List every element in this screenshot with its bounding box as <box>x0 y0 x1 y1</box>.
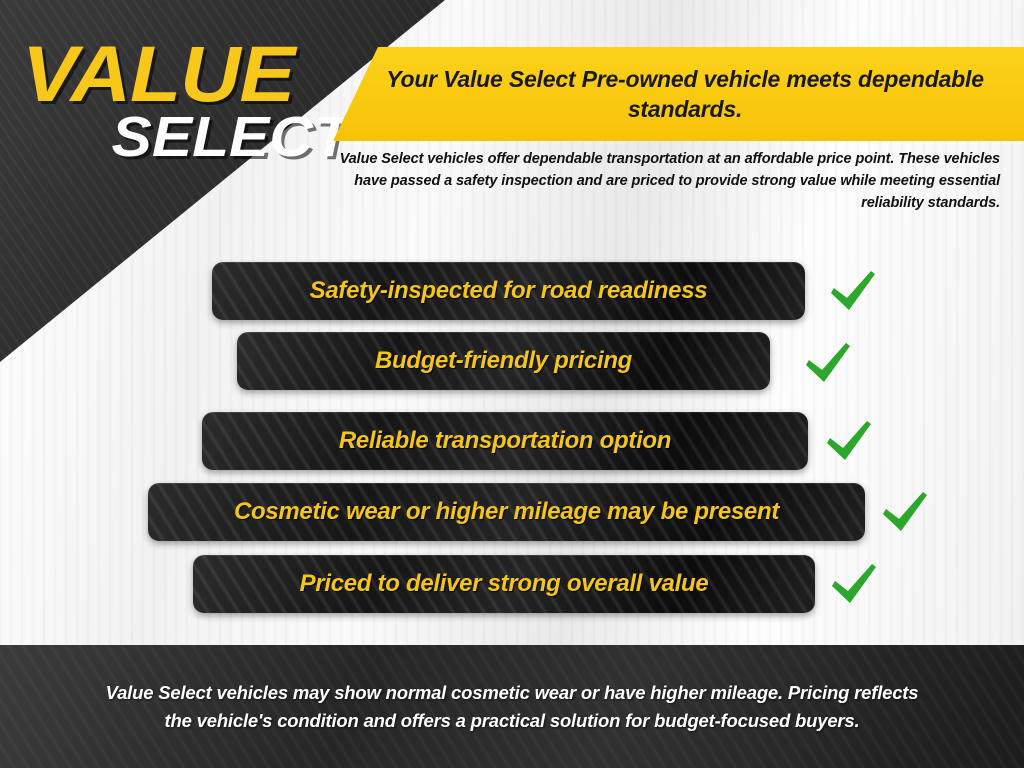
green-check-icon <box>876 486 932 538</box>
logo-word-value: VALUE <box>22 36 372 112</box>
brand-logo: VALUE SELECT <box>22 36 352 166</box>
feature-bar: Budget-friendly pricing <box>237 332 770 390</box>
headline-text: Your Value Select Pre-owned vehicle meet… <box>385 64 985 124</box>
value-select-banner: VALUE SELECT Your Value Select Pre-owned… <box>0 0 1024 768</box>
feature-label: Safety-inspected for road readiness <box>310 277 708 305</box>
green-check-icon <box>799 337 855 389</box>
headline-banner: Your Value Select Pre-owned vehicle meet… <box>320 47 1024 141</box>
feature-label: Cosmetic wear or higher mileage may be p… <box>234 498 779 526</box>
feature-row: Priced to deliver strong overall value <box>193 555 815 613</box>
description-paragraph: Value Select vehicles offer dependable t… <box>324 148 1000 214</box>
feature-label: Budget-friendly pricing <box>375 347 632 375</box>
feature-label: Reliable transportation option <box>339 427 671 455</box>
feature-row: Reliable transportation option <box>202 412 808 470</box>
footer-disclaimer: Value Select vehicles may show normal co… <box>0 645 1024 768</box>
feature-bar: Reliable transportation option <box>202 412 808 470</box>
logo-word-select: SELECT <box>2 108 352 166</box>
feature-row: Safety-inspected for road readiness <box>212 262 805 320</box>
footer-text: Value Select vehicles may show normal co… <box>97 679 927 735</box>
green-check-icon <box>820 415 876 467</box>
feature-bar: Cosmetic wear or higher mileage may be p… <box>148 483 865 541</box>
green-check-icon <box>824 265 880 317</box>
feature-label: Priced to deliver strong overall value <box>300 570 709 598</box>
feature-bar: Safety-inspected for road readiness <box>212 262 805 320</box>
green-check-icon <box>825 558 881 610</box>
feature-bar: Priced to deliver strong overall value <box>193 555 815 613</box>
feature-row: Budget-friendly pricing <box>237 332 770 390</box>
feature-row: Cosmetic wear or higher mileage may be p… <box>148 483 865 541</box>
